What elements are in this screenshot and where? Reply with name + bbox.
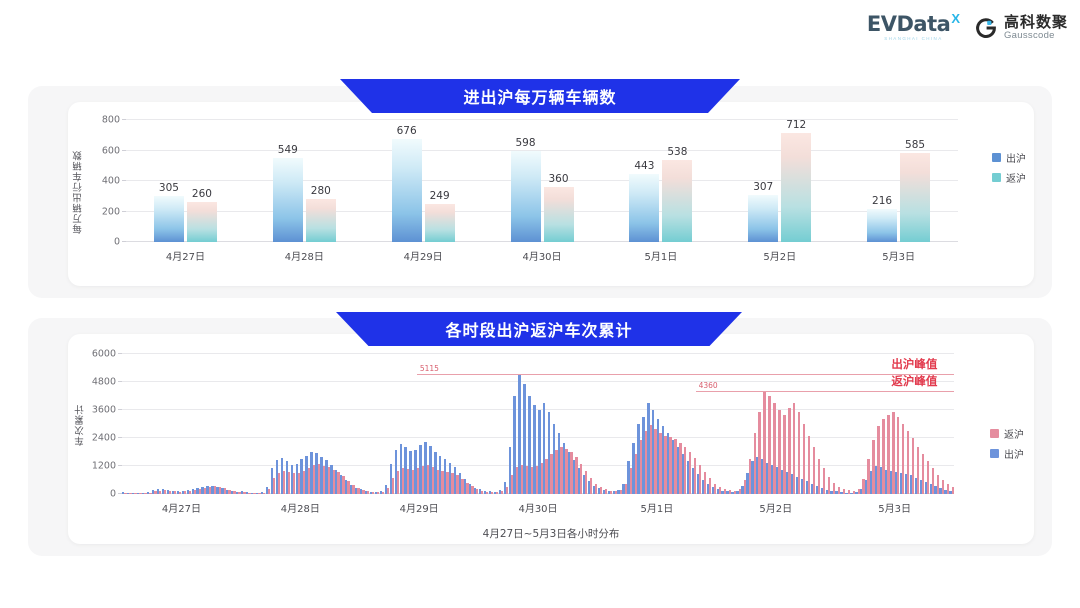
y-axis-tick-label: 0 [110, 489, 116, 500]
x-axis-tick-label: 4月30日 [483, 248, 602, 263]
bar-column[interactable]: 585 [900, 120, 930, 242]
peak-reference-line [417, 374, 954, 375]
bar[interactable] [900, 153, 930, 242]
bar-value-label: 443 [634, 160, 654, 172]
legend-label: 出沪 [1006, 150, 1026, 165]
y-axis-tick-label: 200 [102, 206, 120, 217]
bar-column[interactable]: 216 [867, 120, 897, 242]
gausscode-logo: 高科数聚 Gausscode [974, 15, 1068, 41]
y-axis-tick-label: 3600 [92, 405, 116, 416]
chart1-y-axis-label: 每万辆出行车辆数 [72, 124, 86, 234]
y-axis-tick-label: 600 [102, 145, 120, 156]
chart1-title-banner: 进出沪每万辆车辆数 [340, 79, 740, 113]
chart2-title: 各时段出沪返沪车次累计 [445, 317, 632, 341]
chart-panel-hourly: 车次累计 0120024003600480060005115出沪峰值4360返沪… [28, 318, 1052, 556]
bar-value-label: 538 [667, 146, 687, 158]
evdata-logo-part1: EV [867, 12, 897, 36]
bar-return[interactable] [952, 487, 954, 494]
bar-value-label: 216 [872, 195, 892, 207]
legend-label: 出沪 [1004, 446, 1024, 461]
x-axis-tick-label: 4月30日 [479, 500, 598, 515]
x-axis-tick-label: 4月28日 [241, 500, 360, 515]
x-axis-tick-label: 5月1日 [601, 248, 720, 263]
bar[interactable] [273, 158, 303, 242]
bar-group: 443538 [601, 120, 720, 242]
chart-card-daily: 每万辆出行车辆数 0200400600800305260549280676249… [68, 102, 1034, 286]
y-axis-tick-label: 6000 [92, 349, 116, 360]
gausscode-name-en: Gausscode [1004, 31, 1068, 41]
bar-value-label: 260 [192, 188, 212, 200]
x-axis-tick-label: 4月27日 [122, 500, 241, 515]
peak-value-label: 5115 [420, 364, 439, 373]
peak-annotation-label: 出沪峰值 [891, 356, 937, 372]
bar-value-label: 249 [430, 190, 450, 202]
legend-item[interactable]: 出沪 [992, 150, 1026, 165]
slide-root: EVData X SHANGHAI CHINA 高科数聚 Gausscode 每… [0, 0, 1080, 608]
bar-column[interactable]: 360 [544, 120, 574, 242]
bar-value-label: 280 [311, 185, 331, 197]
evdata-logo-superscript: X [951, 12, 960, 25]
chart2-y-axis-label: 车次累计 [74, 376, 88, 446]
bar-column[interactable]: 598 [511, 120, 541, 242]
legend-swatch-icon [990, 449, 999, 458]
x-axis-tick-label: 4月28日 [245, 248, 364, 263]
bar-column[interactable]: 549 [273, 120, 303, 242]
legend-swatch-icon [992, 153, 1001, 162]
bar-value-label: 549 [278, 144, 298, 156]
bar-value-label: 360 [548, 173, 568, 185]
legend-item[interactable]: 返沪 [990, 426, 1024, 441]
bar-value-label: 307 [753, 181, 773, 193]
y-axis-tick-label: 4800 [92, 377, 116, 388]
y-axis-tick-label: 800 [102, 115, 120, 126]
x-axis-tick-label: 5月1日 [597, 500, 716, 515]
bar-column[interactable]: 249 [425, 120, 455, 242]
legend-swatch-icon [990, 429, 999, 438]
chart2-hourly-bars [122, 354, 954, 494]
bar[interactable] [867, 209, 897, 242]
bar-column[interactable]: 676 [392, 120, 422, 242]
bar[interactable] [306, 199, 336, 242]
bar-column[interactable]: 443 [629, 120, 659, 242]
chart2-legend: 返沪出沪 [990, 426, 1024, 461]
bar-value-label: 598 [515, 137, 535, 149]
brand-logos: EVData X SHANGHAI CHINA 高科数聚 Gausscode [867, 14, 1068, 42]
peak-annotation-label: 返沪峰值 [891, 373, 937, 389]
bar-group: 598360 [483, 120, 602, 242]
chart1-plot-area: 0200400600800305260549280676249598360443… [126, 120, 958, 242]
x-axis-tick-label: 5月2日 [716, 500, 835, 515]
bar-group: 307712 [720, 120, 839, 242]
chart2-plot-area: 0120024003600480060005115出沪峰值4360返沪峰值 [122, 354, 954, 494]
y-axis-tick-label: 1200 [92, 461, 116, 472]
x-axis-tick-label: 5月2日 [720, 248, 839, 263]
bar[interactable] [544, 187, 574, 242]
bar-column[interactable]: 305 [154, 120, 184, 242]
x-axis-tick-label: 4月29日 [364, 248, 483, 263]
evdata-logo: EVData X SHANGHAI CHINA [867, 14, 960, 42]
bar-value-label: 305 [159, 182, 179, 194]
bar[interactable] [187, 202, 217, 242]
bar-value-label: 676 [397, 125, 417, 137]
chart-panel-daily: 每万辆出行车辆数 0200400600800305260549280676249… [28, 86, 1052, 298]
bar-column[interactable]: 712 [781, 120, 811, 242]
evdata-logo-part2: Data [897, 12, 951, 36]
bar-group: 305260 [126, 120, 245, 242]
bar-column[interactable]: 307 [748, 120, 778, 242]
legend-label: 返沪 [1004, 426, 1024, 441]
bar[interactable] [425, 204, 455, 242]
chart1-legend: 出沪返沪 [992, 150, 1026, 185]
chart2-title-banner: 各时段出沪返沪车次累计 [336, 312, 742, 346]
bar-column[interactable]: 280 [306, 120, 336, 242]
legend-label: 返沪 [1006, 170, 1026, 185]
bar-value-label: 585 [905, 139, 925, 151]
bar[interactable] [662, 160, 692, 242]
gausscode-mark-icon [974, 16, 998, 40]
chart2-x-axis-labels: 4月27日4月28日4月29日4月30日5月1日5月2日5月3日 [122, 500, 954, 515]
y-axis-tick-label: 0 [114, 237, 120, 248]
bar-column[interactable]: 260 [187, 120, 217, 242]
bar-group: 216585 [839, 120, 958, 242]
legend-item[interactable]: 出沪 [990, 446, 1024, 461]
bar-group: 676249 [364, 120, 483, 242]
y-axis-tick-label: 400 [102, 176, 120, 187]
x-axis-tick-label: 4月27日 [126, 248, 245, 263]
bar[interactable] [392, 139, 422, 242]
chart1-x-axis-labels: 4月27日4月28日4月29日4月30日5月1日5月2日5月3日 [126, 248, 958, 263]
bar[interactable] [511, 151, 541, 242]
peak-value-label: 4360 [699, 381, 718, 390]
x-axis-tick-label: 5月3日 [839, 248, 958, 263]
legend-item[interactable]: 返沪 [992, 170, 1026, 185]
bar[interactable] [629, 174, 659, 242]
legend-swatch-icon [992, 173, 1001, 182]
bar[interactable] [154, 196, 184, 243]
peak-reference-line [696, 391, 954, 392]
gausscode-name-cn: 高科数聚 [1004, 15, 1068, 31]
evdata-logo-tagline: SHANGHAI CHINA [884, 37, 942, 42]
bar-column[interactable]: 538 [662, 120, 692, 242]
bar-group: 549280 [245, 120, 364, 242]
chart1-bar-groups: 3052605492806762495983604435383077122165… [126, 120, 958, 242]
bar-value-label: 712 [786, 119, 806, 131]
x-axis-tick-label: 5月3日 [835, 500, 954, 515]
hour-slot[interactable] [949, 354, 954, 494]
bar[interactable] [748, 195, 778, 242]
chart-card-hourly: 车次累计 0120024003600480060005115出沪峰值4360返沪… [68, 334, 1034, 544]
chart2-x-axis-caption: 4月27日~5月3日各小时分布 [68, 526, 1034, 541]
bar[interactable] [781, 133, 811, 242]
y-axis-tick-label: 2400 [92, 433, 116, 444]
chart1-title: 进出沪每万辆车辆数 [463, 84, 616, 108]
x-axis-tick-label: 4月29日 [360, 500, 479, 515]
